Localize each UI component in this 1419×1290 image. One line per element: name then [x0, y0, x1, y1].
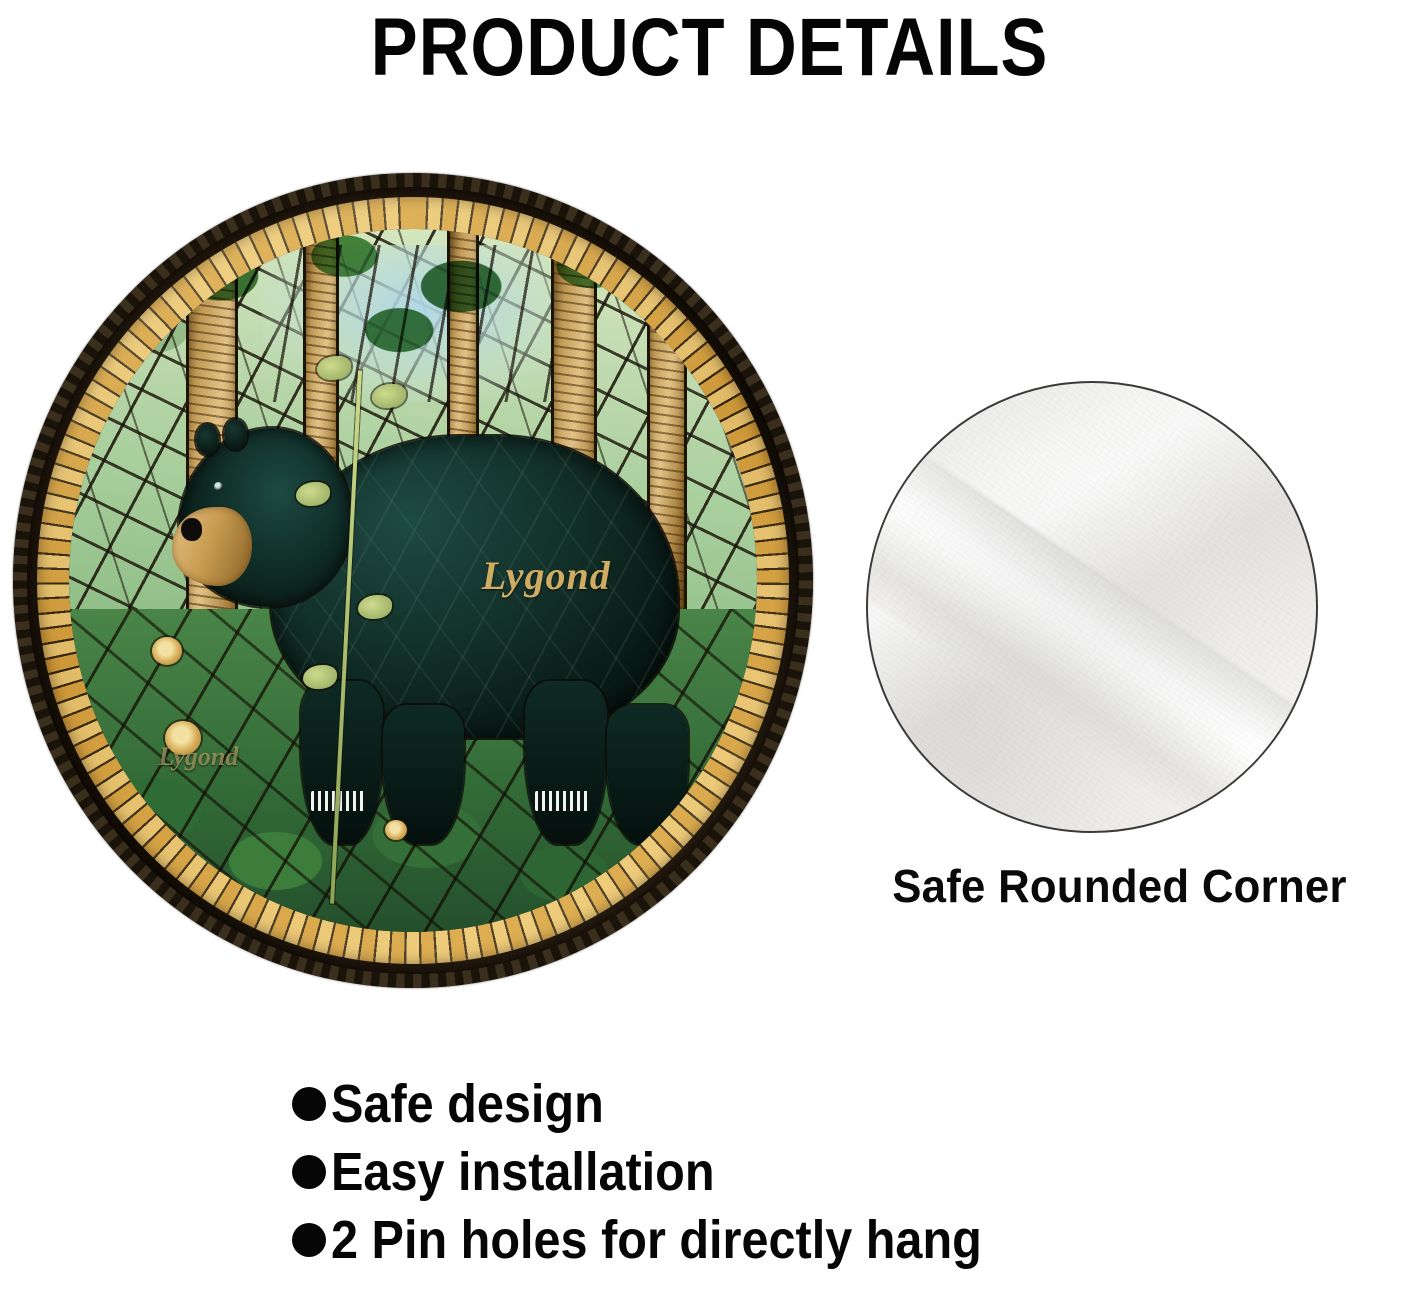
- feature-label: 2 Pin holes for directly hang: [331, 1210, 982, 1270]
- vine-leaf: [303, 665, 337, 689]
- feature-list: Safe design Easy installation 2 Pin hole…: [292, 1072, 1292, 1276]
- bear-head: [179, 428, 352, 607]
- vine-leaf: [372, 384, 406, 408]
- surface-shading: [868, 383, 1316, 831]
- list-item: Easy installation: [292, 1140, 1292, 1204]
- rounded-corner-closeup: [866, 381, 1318, 833]
- bear-nose: [181, 518, 202, 541]
- bear-eye: [214, 482, 224, 491]
- rounded-corner-caption: Safe Rounded Corner: [835, 858, 1404, 914]
- bear-claws: [535, 791, 591, 811]
- glass-flower: [385, 820, 407, 840]
- bullet-dot-icon: [292, 1155, 326, 1189]
- stained-glass-artwork: Lygond Lygond: [69, 229, 757, 932]
- rounded-corner-macro-disc: [866, 381, 1318, 833]
- black-bear-figure: [179, 412, 688, 820]
- bullet-dot-icon: [292, 1223, 326, 1257]
- round-sign: Lygond Lygond: [13, 173, 813, 988]
- feature-label: Easy installation: [331, 1142, 715, 1202]
- bullet-dot-icon: [292, 1087, 326, 1121]
- glass-flower: [152, 637, 182, 665]
- list-item: 2 Pin holes for directly hang: [292, 1208, 1292, 1272]
- feature-label: Safe design: [331, 1074, 604, 1134]
- page-title: PRODUCT DETAILS: [99, 4, 1319, 92]
- bear-ear: [196, 424, 219, 454]
- vine-leaf: [317, 356, 351, 380]
- bear-ear: [224, 419, 247, 449]
- bear-leg: [607, 705, 688, 844]
- bear-muzzle: [172, 507, 252, 586]
- bear-leg: [525, 681, 606, 844]
- vine-leaf: [358, 595, 392, 619]
- product-details-page: PRODUCT DETAILS: [0, 0, 1419, 1290]
- product-image-stained-glass-bear-sign: Lygond Lygond: [13, 173, 813, 988]
- list-item: Safe design: [292, 1072, 1292, 1136]
